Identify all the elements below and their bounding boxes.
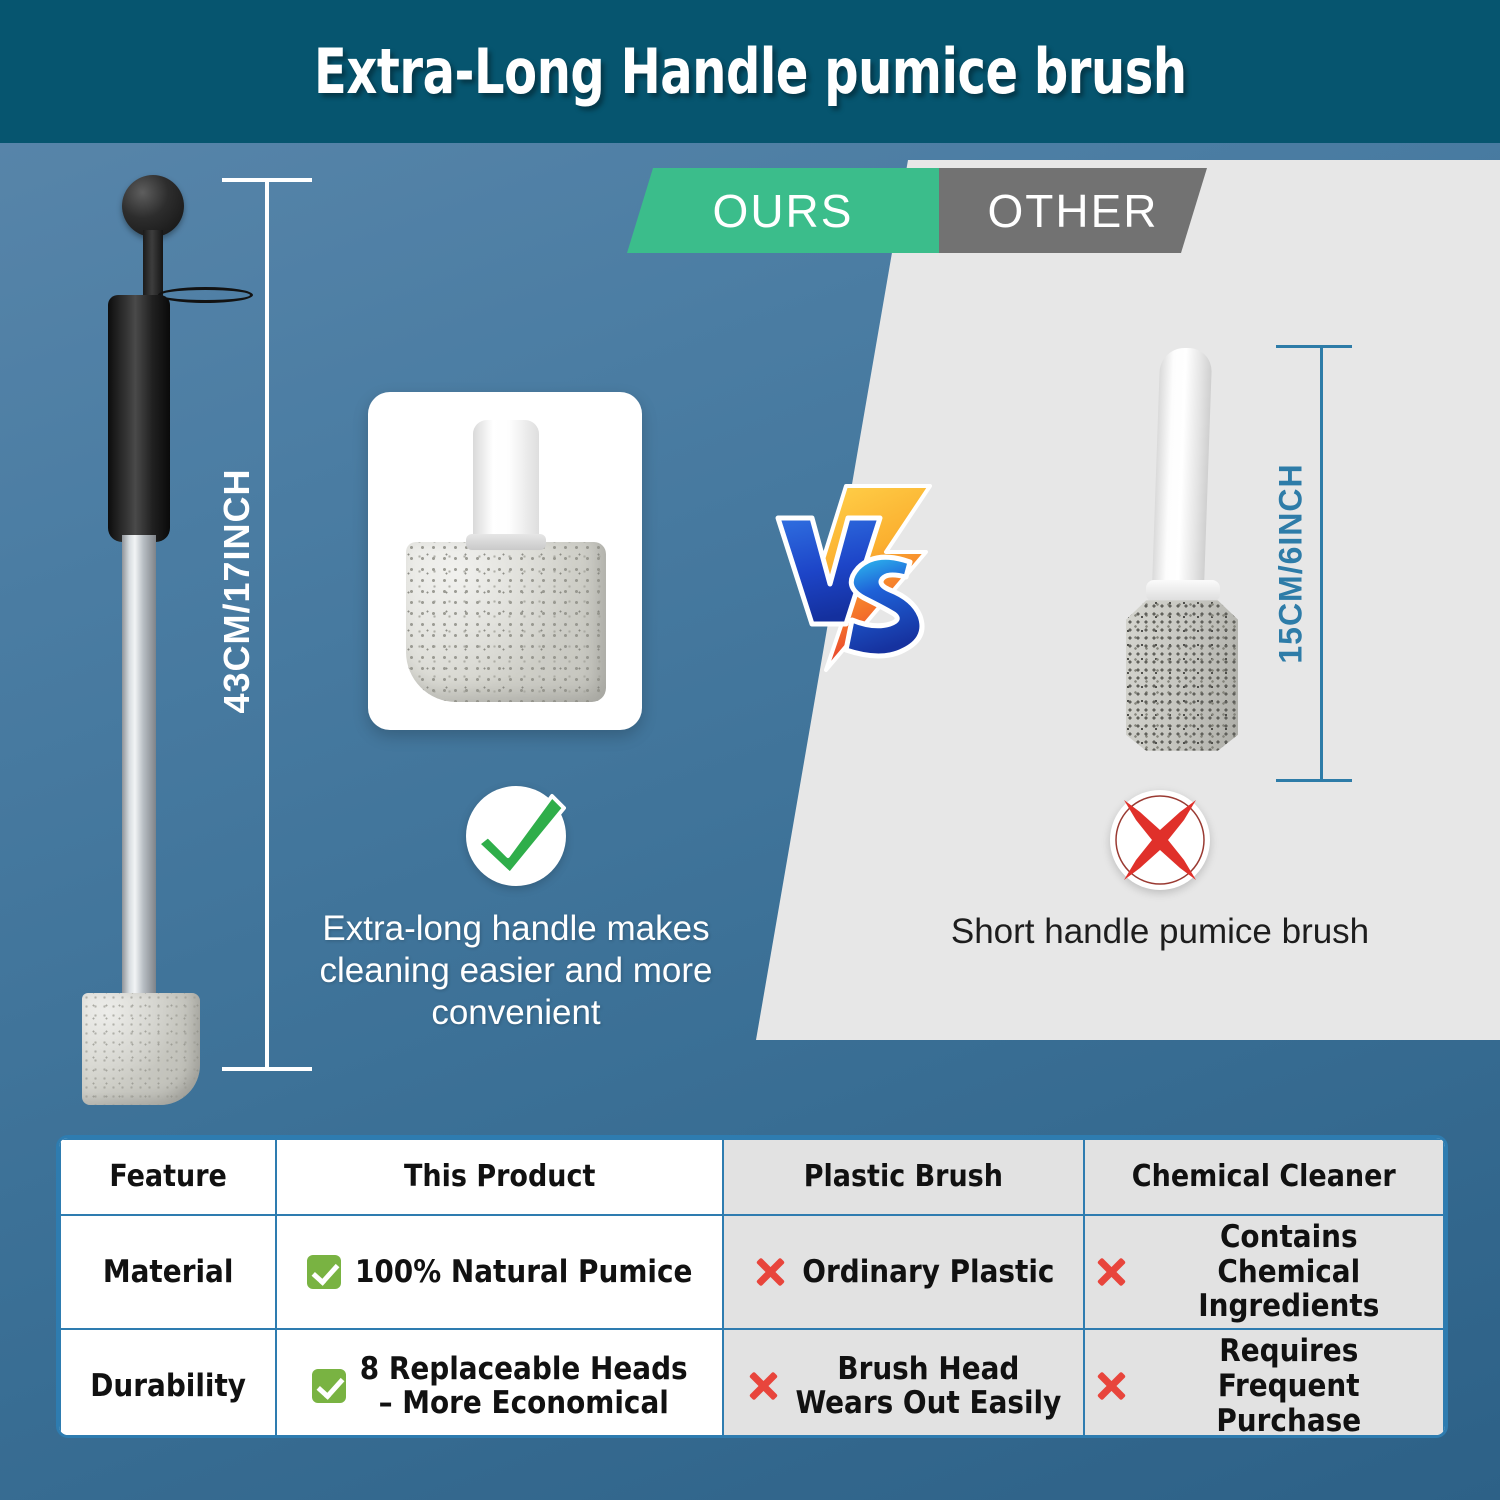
table-feature-cell: Material [60,1215,276,1329]
table-header-cell: This Product [276,1139,723,1215]
page-title: Extra-Long Handle pumice brush [314,35,1187,108]
table-cell-text: ContainsChemical Ingredients [1143,1220,1435,1324]
short-handle-brush-illustration [1118,348,1248,778]
other-caption: Short handle pumice brush [930,912,1390,952]
brush-grip [108,295,170,542]
table-cell: Brush HeadWears Out Easily [723,1329,1083,1438]
ribbon-other-label: OTHER [939,168,1207,253]
short-brush-pumice-block [1126,594,1238,754]
table-cell: Ordinary Plastic [723,1215,1083,1329]
table-header-cell: Feature [60,1139,276,1215]
photo-plastic-connector [473,420,539,542]
other-verdict-block: Short handle pumice brush [930,790,1390,952]
x-icon [1093,1254,1129,1290]
infographic-page: Extra-Long Handle pumice brush OURS OTHE… [0,0,1500,1500]
photo-collar [466,534,546,550]
dimension-vertical-line [265,178,269,1071]
header-banner: Extra-Long Handle pumice brush [0,0,1500,143]
table-feature-cell: Durability [60,1329,276,1438]
x-icon [1093,1368,1129,1404]
table-cell-text: 8 Replaceable Heads– More Economical [360,1352,688,1421]
check-icon [307,1255,341,1289]
x-icon [752,1254,788,1290]
table-cell-text: Ordinary Plastic [802,1255,1054,1290]
pumice-head [82,993,200,1105]
table-row: Durability8 Replaceable Heads– More Econ… [60,1329,1444,1438]
short-brush-collar [1146,580,1220,602]
check-icon [312,1369,346,1403]
table-cell-text: Brush HeadWears Out Easily [795,1352,1061,1421]
brush-knob [122,175,184,237]
table-cell-text: 100% Natural Pumice [355,1255,692,1290]
table-cell: ContainsChemical Ingredients [1084,1215,1444,1329]
green-check-icon [466,786,566,886]
dimension-vertical-line [1320,345,1323,782]
red-x-icon [1110,790,1210,890]
table-cell: 8 Replaceable Heads– More Economical [276,1329,723,1438]
other-dimension-label: 15CM/6INCH [1273,424,1310,704]
table-header-row: FeatureThis ProductPlastic BrushChemical… [60,1139,1444,1215]
comparison-table: FeatureThis ProductPlastic BrushChemical… [56,1135,1448,1438]
table-cell-text: RequiresFrequent Purchase [1143,1334,1435,1438]
comparison-ribbon: OURS OTHER [627,168,1207,253]
ribbon-ours-label: OURS [627,168,939,253]
table-header-cell: Plastic Brush [723,1139,1083,1215]
vs-lightning-icon [768,478,938,678]
ours-verdict-block: Extra-long handle makes cleaning easier … [300,786,732,1034]
table-cell: 100% Natural Pumice [276,1215,723,1329]
dimension-cap-top [1276,345,1352,348]
table-row: Material100% Natural PumiceOrdinary Plas… [60,1215,1444,1329]
table-header-cell: Chemical Cleaner [1084,1139,1444,1215]
table-cell: RequiresFrequent Purchase [1084,1329,1444,1438]
dimension-cap-bottom [222,1067,312,1071]
brush-shaft [122,535,156,1005]
ours-product-photo-card [368,392,642,730]
short-brush-handle [1152,348,1213,598]
brush-neck [143,230,163,298]
x-icon [745,1368,781,1404]
ours-caption: Extra-long handle makes cleaning easier … [300,908,732,1034]
ours-dimension-label: 43CM/17INCH [216,426,258,756]
other-dimension-line: 15CM/6INCH [1264,345,1354,782]
dimension-cap-bottom [1276,779,1352,782]
photo-pumice-stone [406,542,606,702]
